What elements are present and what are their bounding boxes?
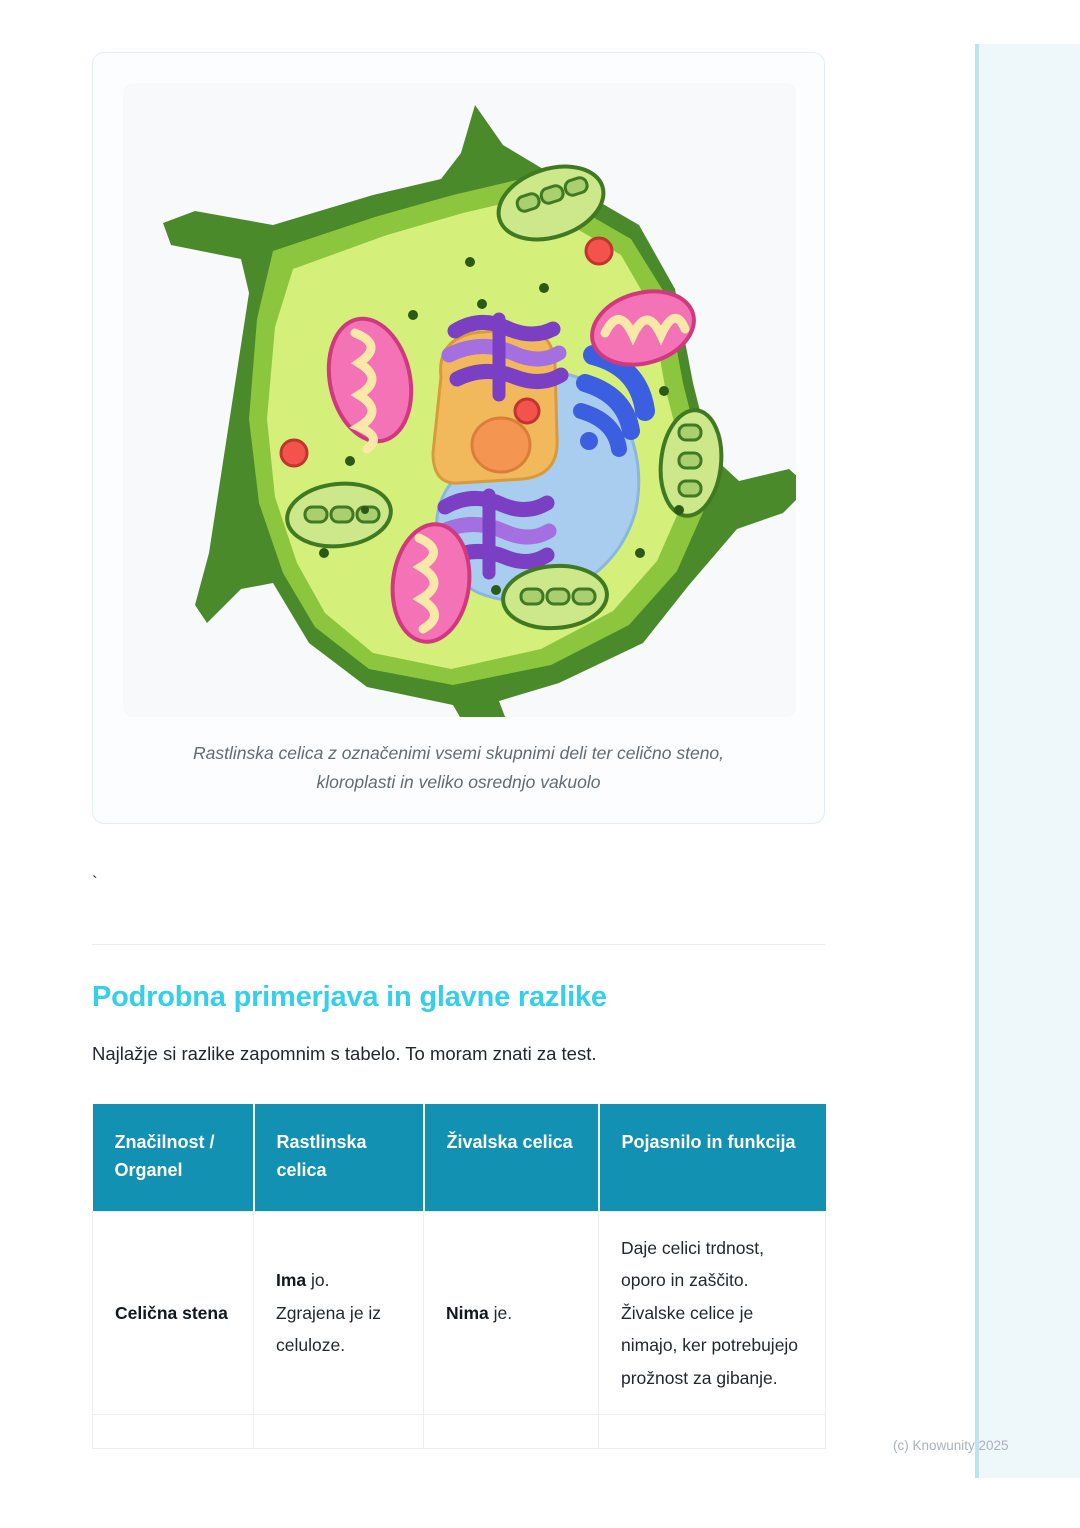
cell-animal-next [424,1414,599,1448]
column-header-feature: Značilnost / Organel [93,1104,254,1212]
table-row-clipped [93,1414,826,1448]
stray-backtick-text: ` [92,872,825,894]
section-paragraph: Najlažje si razlike zapomnim s tabelo. T… [92,1040,825,1068]
section-heading: Podrobna primerjava in glavne razlike [92,981,825,1014]
cell-feature-next [93,1414,254,1448]
cell-animal: Nima je. [424,1212,599,1415]
figure-card: Rastlinska celica z označenimi vsemi sku… [92,52,825,824]
cell-animal-text: je. [489,1303,512,1323]
nucleolus [472,418,530,472]
copyright-watermark: (c) Knowunity 2025 [893,1438,1009,1453]
cell-explanation: Daje celici trdnost, oporo in zaščito. Ž… [599,1212,826,1415]
figure-image-frame [123,83,796,717]
comparison-table: Značilnost / Organel Rastlinska celica Ž… [92,1104,826,1449]
cell-feature: Celična stena [93,1212,254,1415]
page-root: Rastlinska celica z označenimi vsemi sku… [0,0,1080,1528]
cell-plant-next [254,1414,424,1448]
table-header: Značilnost / Organel Rastlinska celica Ž… [93,1104,826,1212]
column-header-animal: Živalska celica [424,1104,599,1212]
cell-animal-emphasis: Nima [446,1303,489,1323]
cell-explanation-next [599,1414,826,1448]
cell-plant-emphasis: Ima [276,1270,306,1290]
cell-plant: Ima jo. Zgrajena je iz celuloze. [254,1212,424,1415]
section-divider [92,944,825,945]
figure-caption: Rastlinska celica z označenimi vsemi sku… [123,739,794,797]
table-body: Celična stena Ima jo. Zgrajena je iz cel… [93,1212,826,1449]
content-column: Rastlinska celica z označenimi vsemi sku… [92,52,825,1449]
cell-feature-label: Celična stena [115,1303,228,1323]
table-header-row: Značilnost / Organel Rastlinska celica Ž… [93,1104,826,1212]
table-row: Celična stena Ima jo. Zgrajena je iz cel… [93,1212,826,1415]
right-highlight-panel [975,44,1080,1478]
column-header-plant: Rastlinska celica [254,1104,424,1212]
column-header-explanation: Pojasnilo in funkcija [599,1104,826,1212]
plant-cell-diagram-icon [123,83,796,717]
